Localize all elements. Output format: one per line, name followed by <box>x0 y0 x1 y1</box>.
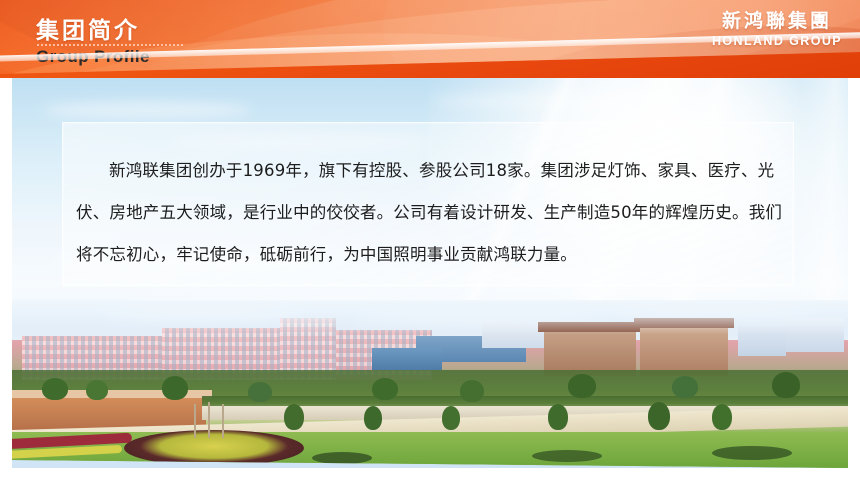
campus-photo <box>12 300 848 468</box>
factory-roof <box>416 336 526 362</box>
garden-wall <box>202 404 848 420</box>
flower-bed <box>124 430 304 466</box>
tree-icon <box>248 382 272 402</box>
flagpole-icon <box>222 404 224 438</box>
flower-border <box>12 433 132 450</box>
cloud-icon <box>612 306 812 317</box>
bottom-margin <box>0 468 860 484</box>
header-banner: 集团简介 Group Profile 新鸿聯集團 HONLAND GROUP <box>0 0 860 78</box>
photo-sky-haze <box>12 300 848 340</box>
brand-logo-en: HONLAND GROUP <box>712 35 842 48</box>
tree-icon <box>568 374 596 398</box>
page-title-en: Group Profile <box>36 47 150 67</box>
slide-root: 新鸿联集团创办于1969年，旗下有控股、参股公司18家。集团涉足灯饰、家具、医疗… <box>0 0 860 484</box>
title-divider <box>37 44 183 46</box>
tree-icon <box>712 404 732 430</box>
flower-border <box>12 445 122 459</box>
tree-icon <box>648 402 670 430</box>
flagpole-icon <box>194 404 196 438</box>
page-title-cn: 集团简介 <box>36 11 140 45</box>
villa-block <box>544 328 636 376</box>
treeline <box>12 370 848 396</box>
shrub-patch <box>712 446 792 460</box>
tree-icon <box>442 406 460 430</box>
building-block <box>22 336 172 380</box>
tree-icon <box>460 380 484 402</box>
villa-roof <box>634 318 734 328</box>
tree-icon <box>86 380 108 400</box>
profile-paragraph: 新鸿联集团创办于1969年，旗下有控股、参股公司18家。集团涉足灯饰、家具、医疗… <box>76 150 788 276</box>
photo-top-fade <box>12 300 848 334</box>
cloud-icon <box>352 314 612 323</box>
building-block <box>12 394 206 430</box>
shrub-patch <box>312 452 372 464</box>
campus-photo-image <box>12 300 848 468</box>
tree-icon <box>672 376 698 398</box>
cloud-icon <box>42 102 252 118</box>
villa-block <box>640 324 728 376</box>
flagpole-icon <box>208 402 210 438</box>
cloud-icon <box>432 94 662 108</box>
building-block <box>738 326 786 356</box>
walkway <box>12 405 848 450</box>
brand-logo-cn: 新鸿聯集團 <box>712 12 842 31</box>
building-block <box>162 328 282 380</box>
building-block <box>782 318 844 352</box>
hedge-row <box>202 396 848 406</box>
building-block <box>280 318 336 380</box>
building-block <box>336 330 432 380</box>
villa-roof <box>538 322 642 332</box>
brand-logo[interactable]: 新鸿聯集團 HONLAND GROUP <box>712 12 842 48</box>
tree-icon <box>284 404 304 430</box>
tree-icon <box>772 372 800 398</box>
tree-icon <box>162 376 188 400</box>
tree-icon <box>42 378 68 400</box>
tree-icon <box>372 378 398 400</box>
shrub-patch <box>532 450 602 462</box>
factory-roof <box>372 348 442 370</box>
building-roof <box>12 390 212 398</box>
tree-icon <box>548 404 568 430</box>
tree-icon <box>364 406 382 430</box>
building-block <box>482 322 556 348</box>
cloud-icon <box>102 308 302 318</box>
lawn <box>12 432 848 468</box>
